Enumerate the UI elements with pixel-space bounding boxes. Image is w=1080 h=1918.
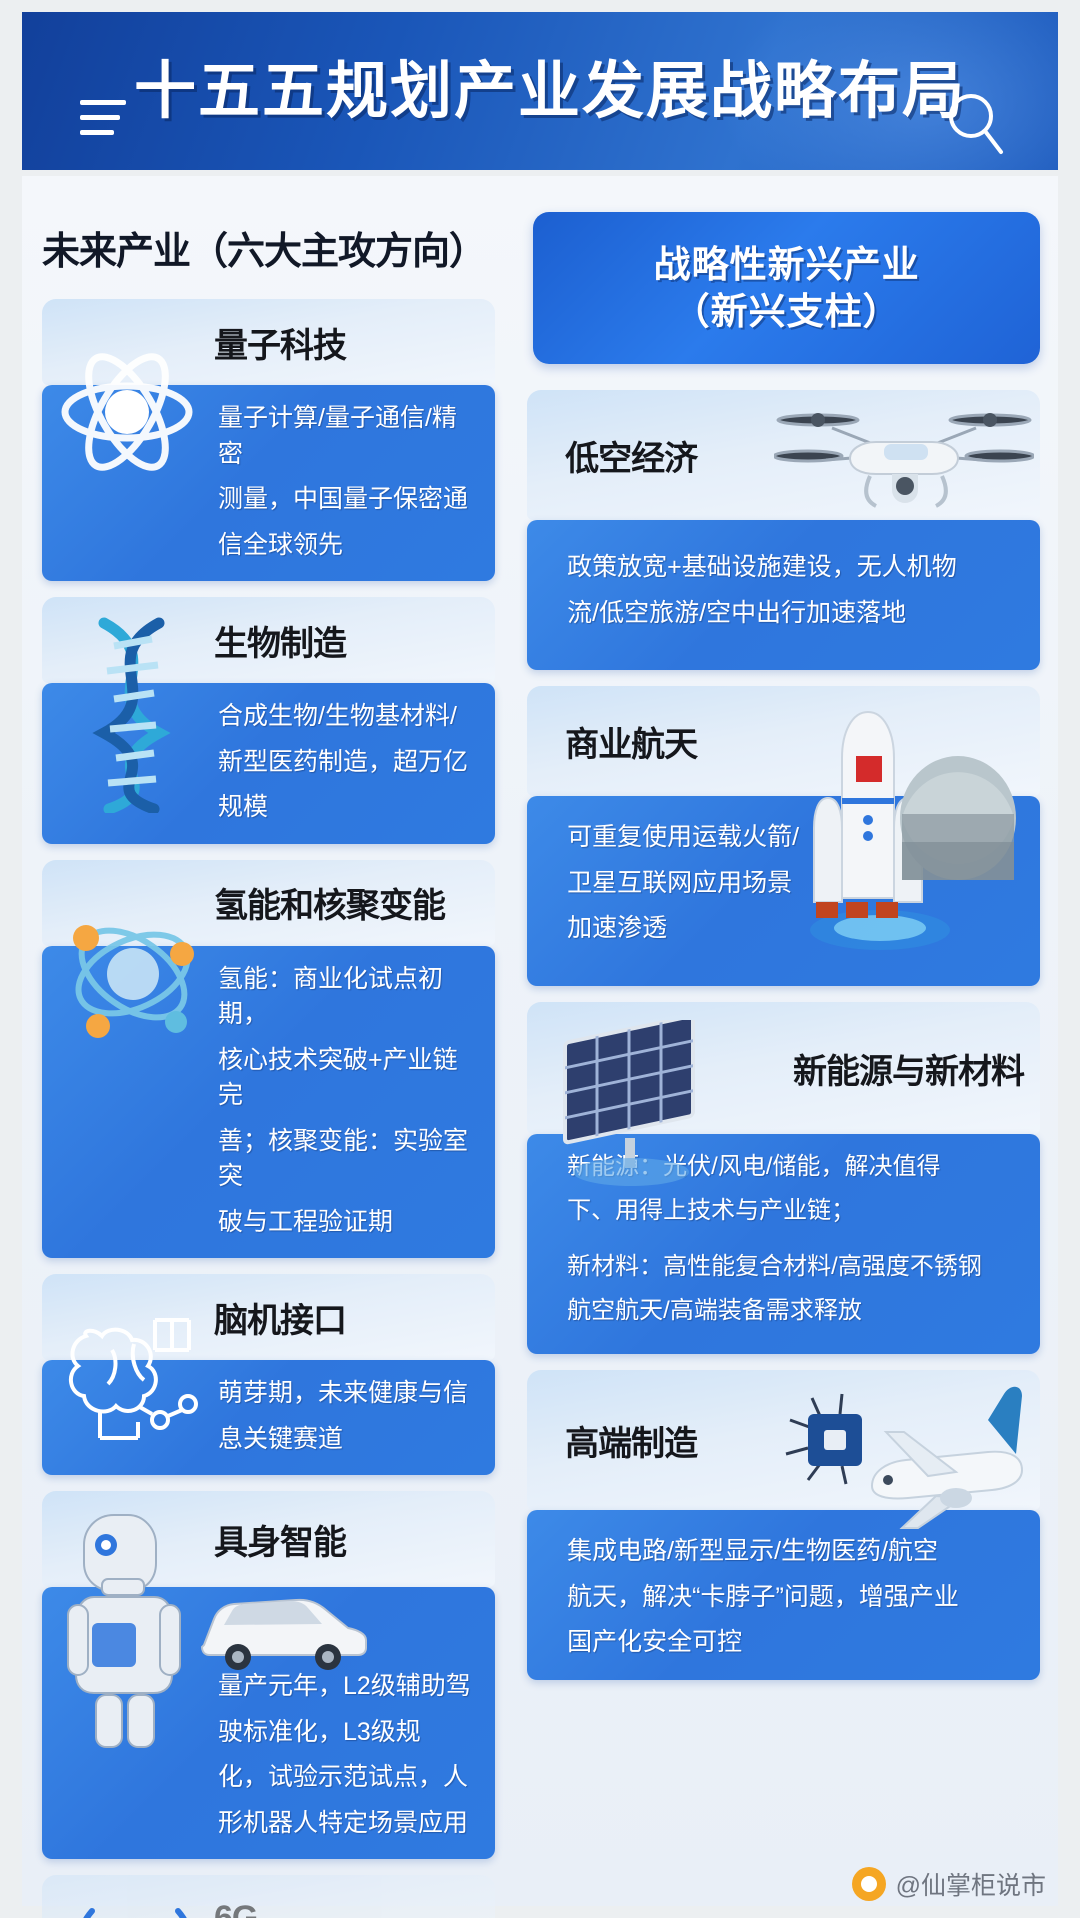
card-line: 形机器人特定场景应用 (218, 1806, 477, 1842)
card-line: 新型医药制造，超万亿 (218, 745, 477, 781)
card-line: 化，试验示范试点，人 (218, 1760, 477, 1796)
card-body: 可重复使用运载火箭/ 卫星互联网应用场景 加速渗透 (527, 796, 1040, 986)
card-line: 规模 (218, 790, 477, 826)
card-bio-manufacturing[interactable]: 生物制造 合成生物/生物基材料/ 新型医药制造，超万亿 规模 (42, 597, 495, 844)
card-body: 政策放宽+基础设施建设，无人机物 流/低空旅游/空中出行加速落地 (527, 520, 1040, 670)
card-body: 量子计算/量子通信/精密 测量，中国量子保密通 信全球领先 (42, 385, 495, 581)
card-title: 低空经济 (565, 431, 697, 480)
card-header: 具身智能 (42, 1491, 495, 1587)
card-header: 低空经济 (527, 390, 1040, 520)
hamburger-bar (80, 130, 114, 135)
card-line: 核心技术突破+产业链完 (218, 1043, 477, 1114)
left-section-title: 未来产业（六大主攻方向） (34, 190, 501, 299)
right-section-title: 战略性新兴产业 （新兴支柱） (533, 212, 1040, 364)
hamburger-bar (80, 115, 120, 120)
hamburger-bar (80, 100, 126, 105)
card-line: 加速渗透 (567, 911, 840, 947)
card-line: 善；核聚变能：实验室突 (218, 1124, 477, 1195)
right-section-title-line2: （新兴支柱） (673, 288, 901, 335)
card-quantum-tech[interactable]: 量子科技 量子计算/量子通信/精密 测量，中国量子保密通 信全球领先 (42, 299, 495, 581)
card-embodied-intelligence[interactable]: 具身智能 量产元年，L2级辅助驾 驶标准化，L3级规 化，试验示范试点，人 形机… (42, 1491, 495, 1859)
card-line: 测量，中国量子保密通 (218, 482, 477, 518)
card-new-energy-materials[interactable]: 新能源与新材料 新能源：光伏/风电/储能，解决值得 下、用得上技术与产业链； 新… (527, 1002, 1040, 1354)
card-title: 6G (214, 1899, 257, 1918)
card-line: 航天，解决“卡脖子”问题，增强产业 (567, 1580, 1022, 1616)
card-title: 氢能和核聚变能 (214, 878, 445, 927)
card-low-altitude-economy[interactable]: 低空经济 政策放宽+基础设施建设，无人机物 流/低空旅游/空中出行加速落地 (527, 390, 1040, 670)
content-columns: 未来产业（六大主攻方向） 量子科技 (22, 176, 1058, 1906)
card-body: 量产元年，L2级辅助驾 驶标准化，L3级规 化，试验示范试点，人 形机器人特定场… (42, 1587, 495, 1859)
card-header: 氢能和核聚变能 (42, 860, 495, 946)
card-header: 6G (42, 1875, 495, 1918)
hamburger-icon[interactable] (80, 100, 132, 140)
card-header: 高端制造 (527, 1370, 1040, 1510)
header-banner: 十五五规划产业发展战略布局 (22, 12, 1058, 170)
card-header: 新能源与新材料 (527, 1002, 1040, 1134)
card-6g[interactable]: 6G 国际标准研究与关键技术 验证期，试验组网启用阶 段，产业化支撑供给 (42, 1875, 495, 1918)
card-header: 商业航天 (527, 686, 1040, 796)
page-title: 十五五规划产业发展战略布局 (134, 40, 994, 130)
card-title: 生物制造 (214, 616, 346, 665)
card-line: 合成生物/生物基材料/ (218, 699, 477, 735)
weibo-icon (852, 1867, 886, 1901)
card-line: 下、用得上技术与产业链； (567, 1194, 1022, 1228)
card-body: 新能源：光伏/风电/储能，解决值得 下、用得上技术与产业链； 新材料：高性能复合… (527, 1134, 1040, 1354)
card-line: 可重复使用运载火箭/ (567, 820, 840, 856)
card-title: 商业航天 (565, 717, 697, 766)
card-header: 生物制造 (42, 597, 495, 683)
card-title: 量子科技 (214, 318, 346, 367)
card-line: 国产化安全可控 (567, 1625, 1022, 1661)
card-line: 信全球领先 (218, 528, 477, 564)
card-header: 脑机接口 (42, 1274, 495, 1360)
card-line: 政策放宽+基础设施建设，无人机物 (567, 550, 1022, 586)
card-line: 新能源：光伏/风电/储能，解决值得 (567, 1150, 1022, 1184)
card-title: 脑机接口 (214, 1293, 346, 1342)
right-section-title-line1: 战略性新兴产业 (654, 241, 920, 288)
card-line: 航空航天/高端装备需求释放 (567, 1294, 1022, 1328)
card-header: 量子科技 (42, 299, 495, 385)
card-line: 卫星互联网应用场景 (567, 866, 840, 902)
right-column: 战略性新兴产业 （新兴支柱） (519, 190, 1046, 1906)
left-column: 未来产业（六大主攻方向） 量子科技 (34, 190, 501, 1906)
card-line: 息关键赛道 (218, 1422, 477, 1458)
card-brain-computer-interface[interactable]: 脑机接口 萌芽期，未来健康与信 息关键赛道 (42, 1274, 495, 1475)
card-body: 集成电路/新型显示/生物医药/航空 航天，解决“卡脖子”问题，增强产业 国产化安… (527, 1510, 1040, 1680)
card-hydrogen-fusion[interactable]: 氢能和核聚变能 氢能：商业化试点初期， 核心技术突破+产业链完 善；核聚变能：实… (42, 860, 495, 1259)
card-line: 集成电路/新型显示/生物医药/航空 (567, 1534, 1022, 1570)
card-line: 氢能：商业化试点初期， (218, 962, 477, 1033)
card-title: 具身智能 (214, 1515, 346, 1564)
search-icon[interactable] (944, 90, 1006, 160)
card-body: 合成生物/生物基材料/ 新型医药制造，超万亿 规模 (42, 683, 495, 844)
card-line: 驶标准化，L3级规 (218, 1715, 477, 1751)
card-line: 量子计算/量子通信/精密 (218, 401, 477, 472)
card-commercial-aerospace[interactable]: 商业航天 可重复使用运载火箭/ 卫星互联网应用场景 加速渗透 (527, 686, 1040, 986)
card-title: 高端制造 (565, 1416, 697, 1465)
card-line: 流/低空旅游/空中出行加速落地 (567, 596, 1022, 632)
card-line: 新材料：高性能复合材料/高强度不锈钢 (567, 1250, 1022, 1284)
watermark-text: @仙掌柜说市 (896, 1866, 1046, 1902)
card-body: 萌芽期，未来健康与信 息关键赛道 (42, 1360, 495, 1475)
card-title: 新能源与新材料 (793, 1044, 1024, 1093)
infographic-page: 十五五规划产业发展战略布局 未来产业（六大主攻方向） (0, 0, 1080, 1918)
watermark: @仙掌柜说市 (852, 1866, 1046, 1902)
card-body: 氢能：商业化试点初期， 核心技术突破+产业链完 善；核聚变能：实验室突 破与工程… (42, 946, 495, 1259)
card-line: 破与工程验证期 (218, 1205, 477, 1241)
card-high-end-manufacturing[interactable]: 高端制造 集成电路/新型显示/生物医药/航空 航天，解决“卡脖子”问题，增强产业… (527, 1370, 1040, 1680)
card-line: 量产元年，L2级辅助驾 (218, 1669, 477, 1705)
card-line: 萌芽期，未来健康与信 (218, 1376, 477, 1412)
